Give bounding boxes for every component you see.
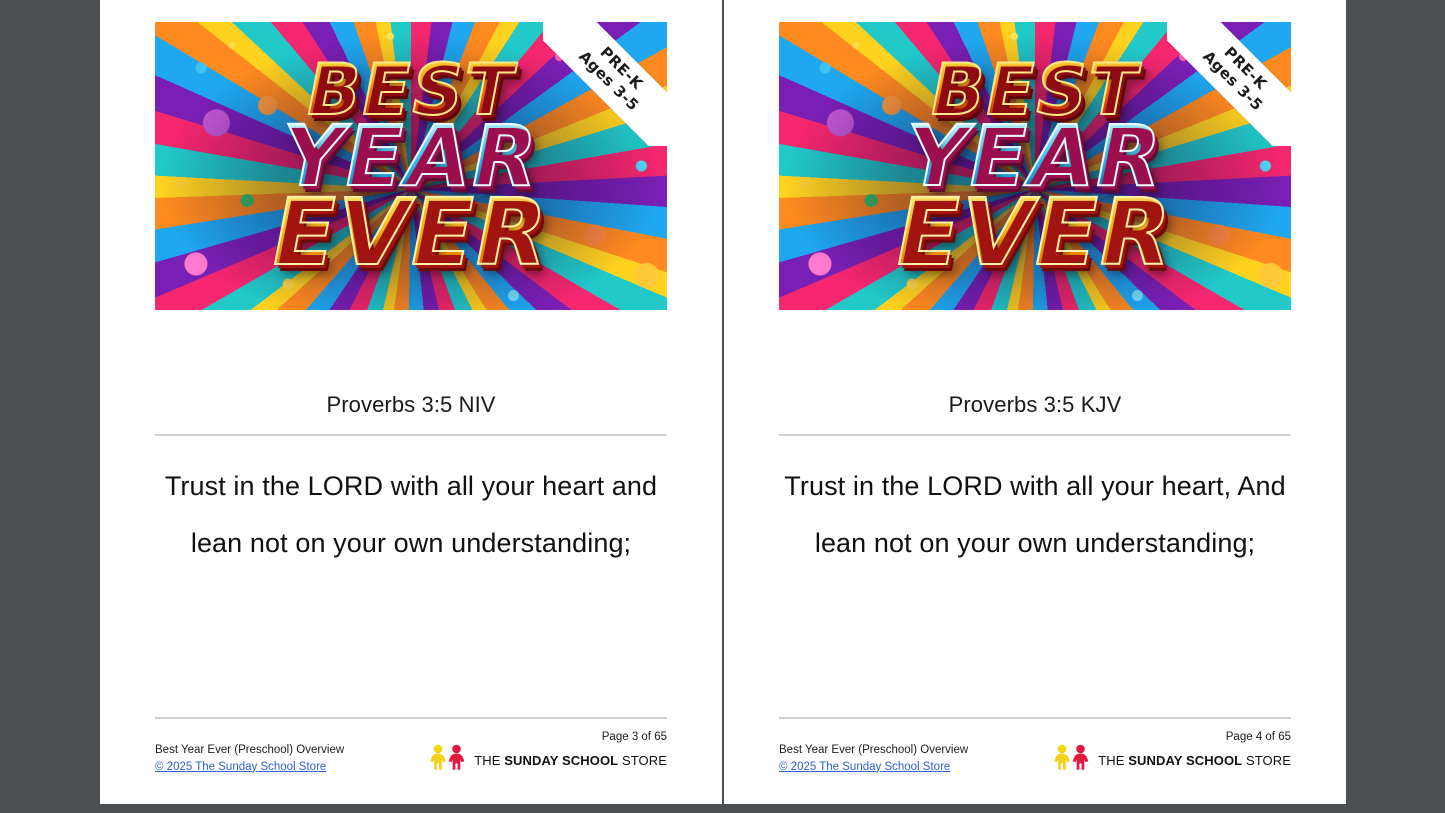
scripture-block-right: Proverbs 3:5 KJV Trust in the LORD with … bbox=[779, 392, 1291, 572]
brand-name-right: THE SUNDAY SCHOOL STORE bbox=[1098, 753, 1291, 768]
brand-suffix-left: STORE bbox=[618, 753, 667, 768]
banner-image-left: BEST YEAR EVER PRE-K Ages 3-5 bbox=[155, 22, 667, 310]
brand-bold-left: SUNDAY SCHOOL bbox=[504, 753, 618, 768]
footer-document-title-right: Best Year Ever (Preschool) Overview bbox=[779, 742, 968, 759]
verse-divider-right bbox=[779, 434, 1291, 436]
footer-divider-left bbox=[155, 717, 667, 719]
pdf-viewer[interactable]: BEST YEAR EVER PRE-K Ages 3-5 Proverbs 3… bbox=[0, 0, 1445, 813]
brand-prefix-left: THE bbox=[474, 753, 504, 768]
footer-document-title-left: Best Year Ever (Preschool) Overview bbox=[155, 742, 344, 759]
wordmark-line-ever-right: EVER bbox=[897, 194, 1173, 271]
page-content-left: BEST YEAR EVER PRE-K Ages 3-5 Proverbs 3… bbox=[155, 22, 667, 794]
page-footer-left: Best Year Ever (Preschool) Overview © 20… bbox=[155, 717, 667, 776]
footer-copyright-link-right[interactable]: © 2025 The Sunday School Store bbox=[779, 759, 950, 776]
corner-ribbon-right: PRE-K Ages 3-5 bbox=[1167, 22, 1291, 146]
verse-text-right: Trust in the LORD with all your heart, A… bbox=[779, 458, 1291, 572]
page-number-right: Page 4 of 65 bbox=[1226, 731, 1291, 743]
verse-reference-left: Proverbs 3:5 NIV bbox=[155, 392, 667, 418]
scripture-block-left: Proverbs 3:5 NIV Trust in the LORD with … bbox=[155, 392, 667, 572]
footer-brand-area-left: Page 3 of 65 bbox=[429, 731, 667, 776]
brand-bold-right: SUNDAY SCHOOL bbox=[1128, 753, 1242, 768]
wordmark-line-ever-left: EVER bbox=[273, 194, 549, 271]
page-number-left: Page 3 of 65 bbox=[602, 731, 667, 743]
ribbon-banner-right: PRE-K Ages 3-5 bbox=[1167, 22, 1291, 146]
brand-lockup-left: THE SUNDAY SCHOOL STORE bbox=[429, 744, 667, 776]
verse-text-left: Trust in the LORD with all your heart an… bbox=[155, 458, 667, 572]
page-footer-right: Best Year Ever (Preschool) Overview © 20… bbox=[779, 717, 1291, 776]
footer-copyright-link-left[interactable]: © 2025 The Sunday School Store bbox=[155, 759, 326, 776]
verse-reference-right: Proverbs 3:5 KJV bbox=[779, 392, 1291, 418]
verse-divider-left bbox=[155, 434, 667, 436]
footer-brand-area-right: Page 4 of 65 bbox=[1053, 731, 1291, 776]
brand-suffix-right: STORE bbox=[1242, 753, 1291, 768]
ribbon-banner-left: PRE-K Ages 3-5 bbox=[543, 22, 667, 146]
brand-lockup-right: THE SUNDAY SCHOOL STORE bbox=[1053, 744, 1291, 776]
brand-prefix-right: THE bbox=[1098, 753, 1128, 768]
brand-name-left: THE SUNDAY SCHOOL STORE bbox=[474, 753, 667, 768]
page-content-right: BEST YEAR EVER PRE-K Ages 3-5 Proverbs 3… bbox=[779, 22, 1291, 794]
document-page-right[interactable]: BEST YEAR EVER PRE-K Ages 3-5 Proverbs 3… bbox=[724, 0, 1346, 804]
corner-ribbon-left: PRE-K Ages 3-5 bbox=[543, 22, 667, 146]
two-children-logo-icon-left bbox=[429, 744, 467, 776]
document-page-left[interactable]: BEST YEAR EVER PRE-K Ages 3-5 Proverbs 3… bbox=[100, 0, 722, 804]
footer-divider-right bbox=[779, 717, 1291, 719]
footer-info-left: Best Year Ever (Preschool) Overview © 20… bbox=[155, 742, 344, 777]
two-children-logo-icon-right bbox=[1053, 744, 1091, 776]
banner-image-right: BEST YEAR EVER PRE-K Ages 3-5 bbox=[779, 22, 1291, 310]
footer-info-right: Best Year Ever (Preschool) Overview © 20… bbox=[779, 742, 968, 777]
